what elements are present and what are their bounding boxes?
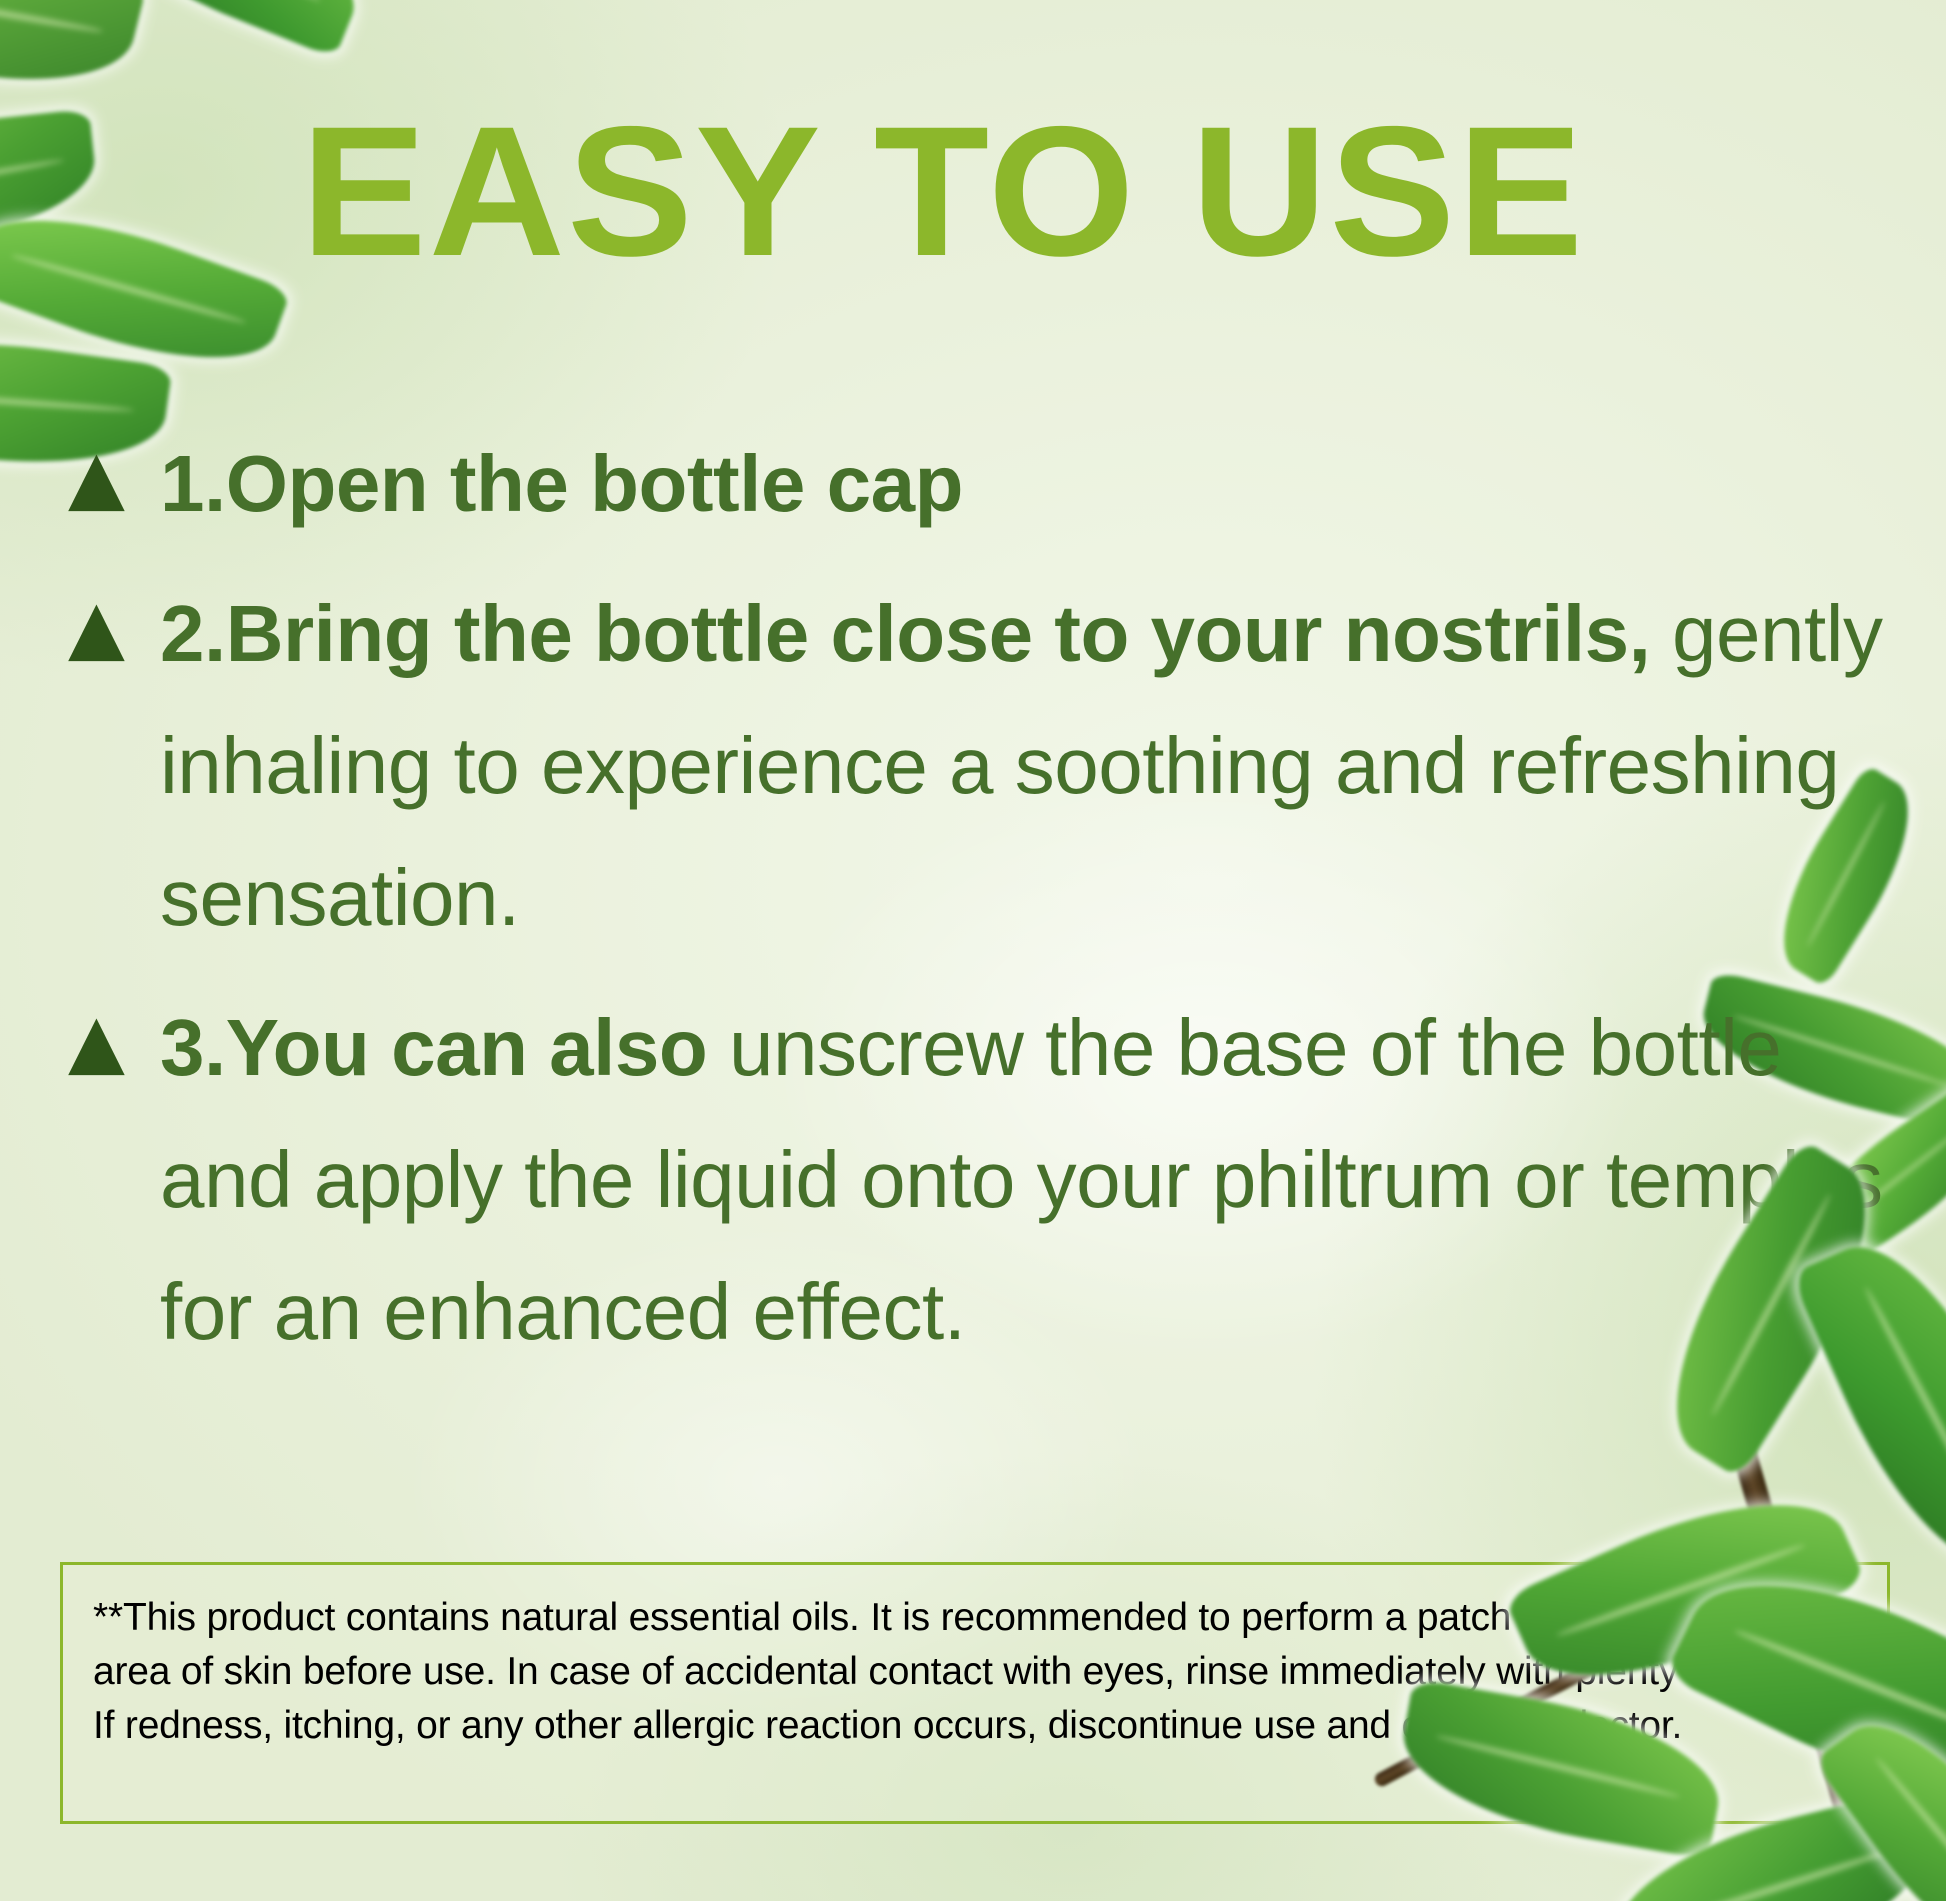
list-item: ▲ 1.Open the bottle cap bbox=[68, 418, 1886, 550]
disclaimer-box: **This product contains natural essentia… bbox=[60, 1562, 1890, 1824]
triangle-up-icon: ▲ bbox=[68, 418, 160, 536]
page-title: EASY TO USE bbox=[0, 100, 1905, 285]
list-item: ▲ 3.You can also unscrew the base of the… bbox=[68, 982, 1886, 1378]
step-3-text: 3.You can also unscrew the base of the b… bbox=[160, 982, 1886, 1378]
step-2-bold-text: 2.Bring the bottle close to your nostril… bbox=[160, 589, 1650, 678]
instruction-steps-list: ▲ 1.Open the bottle cap ▲ 2.Bring the bo… bbox=[68, 418, 1886, 1396]
disclaimer-text: **This product contains natural essentia… bbox=[93, 1591, 1857, 1753]
triangle-up-icon: ▲ bbox=[68, 568, 160, 686]
step-1-text: 1.Open the bottle cap bbox=[160, 418, 1886, 550]
step-1-bold-text: 1.Open the bottle cap bbox=[160, 439, 963, 528]
list-item: ▲ 2.Bring the bottle close to your nostr… bbox=[68, 568, 1886, 964]
step-2-text: 2.Bring the bottle close to your nostril… bbox=[160, 568, 1886, 964]
poster-content: EASY TO USE ▲ 1.Open the bottle cap ▲ 2.… bbox=[0, 0, 1946, 1901]
triangle-up-icon: ▲ bbox=[68, 982, 160, 1100]
step-3-bold-text: 3.You can also bbox=[160, 1003, 707, 1092]
easy-to-use-instruction-poster: EASY TO USE ▲ 1.Open the bottle cap ▲ 2.… bbox=[0, 0, 1946, 1901]
